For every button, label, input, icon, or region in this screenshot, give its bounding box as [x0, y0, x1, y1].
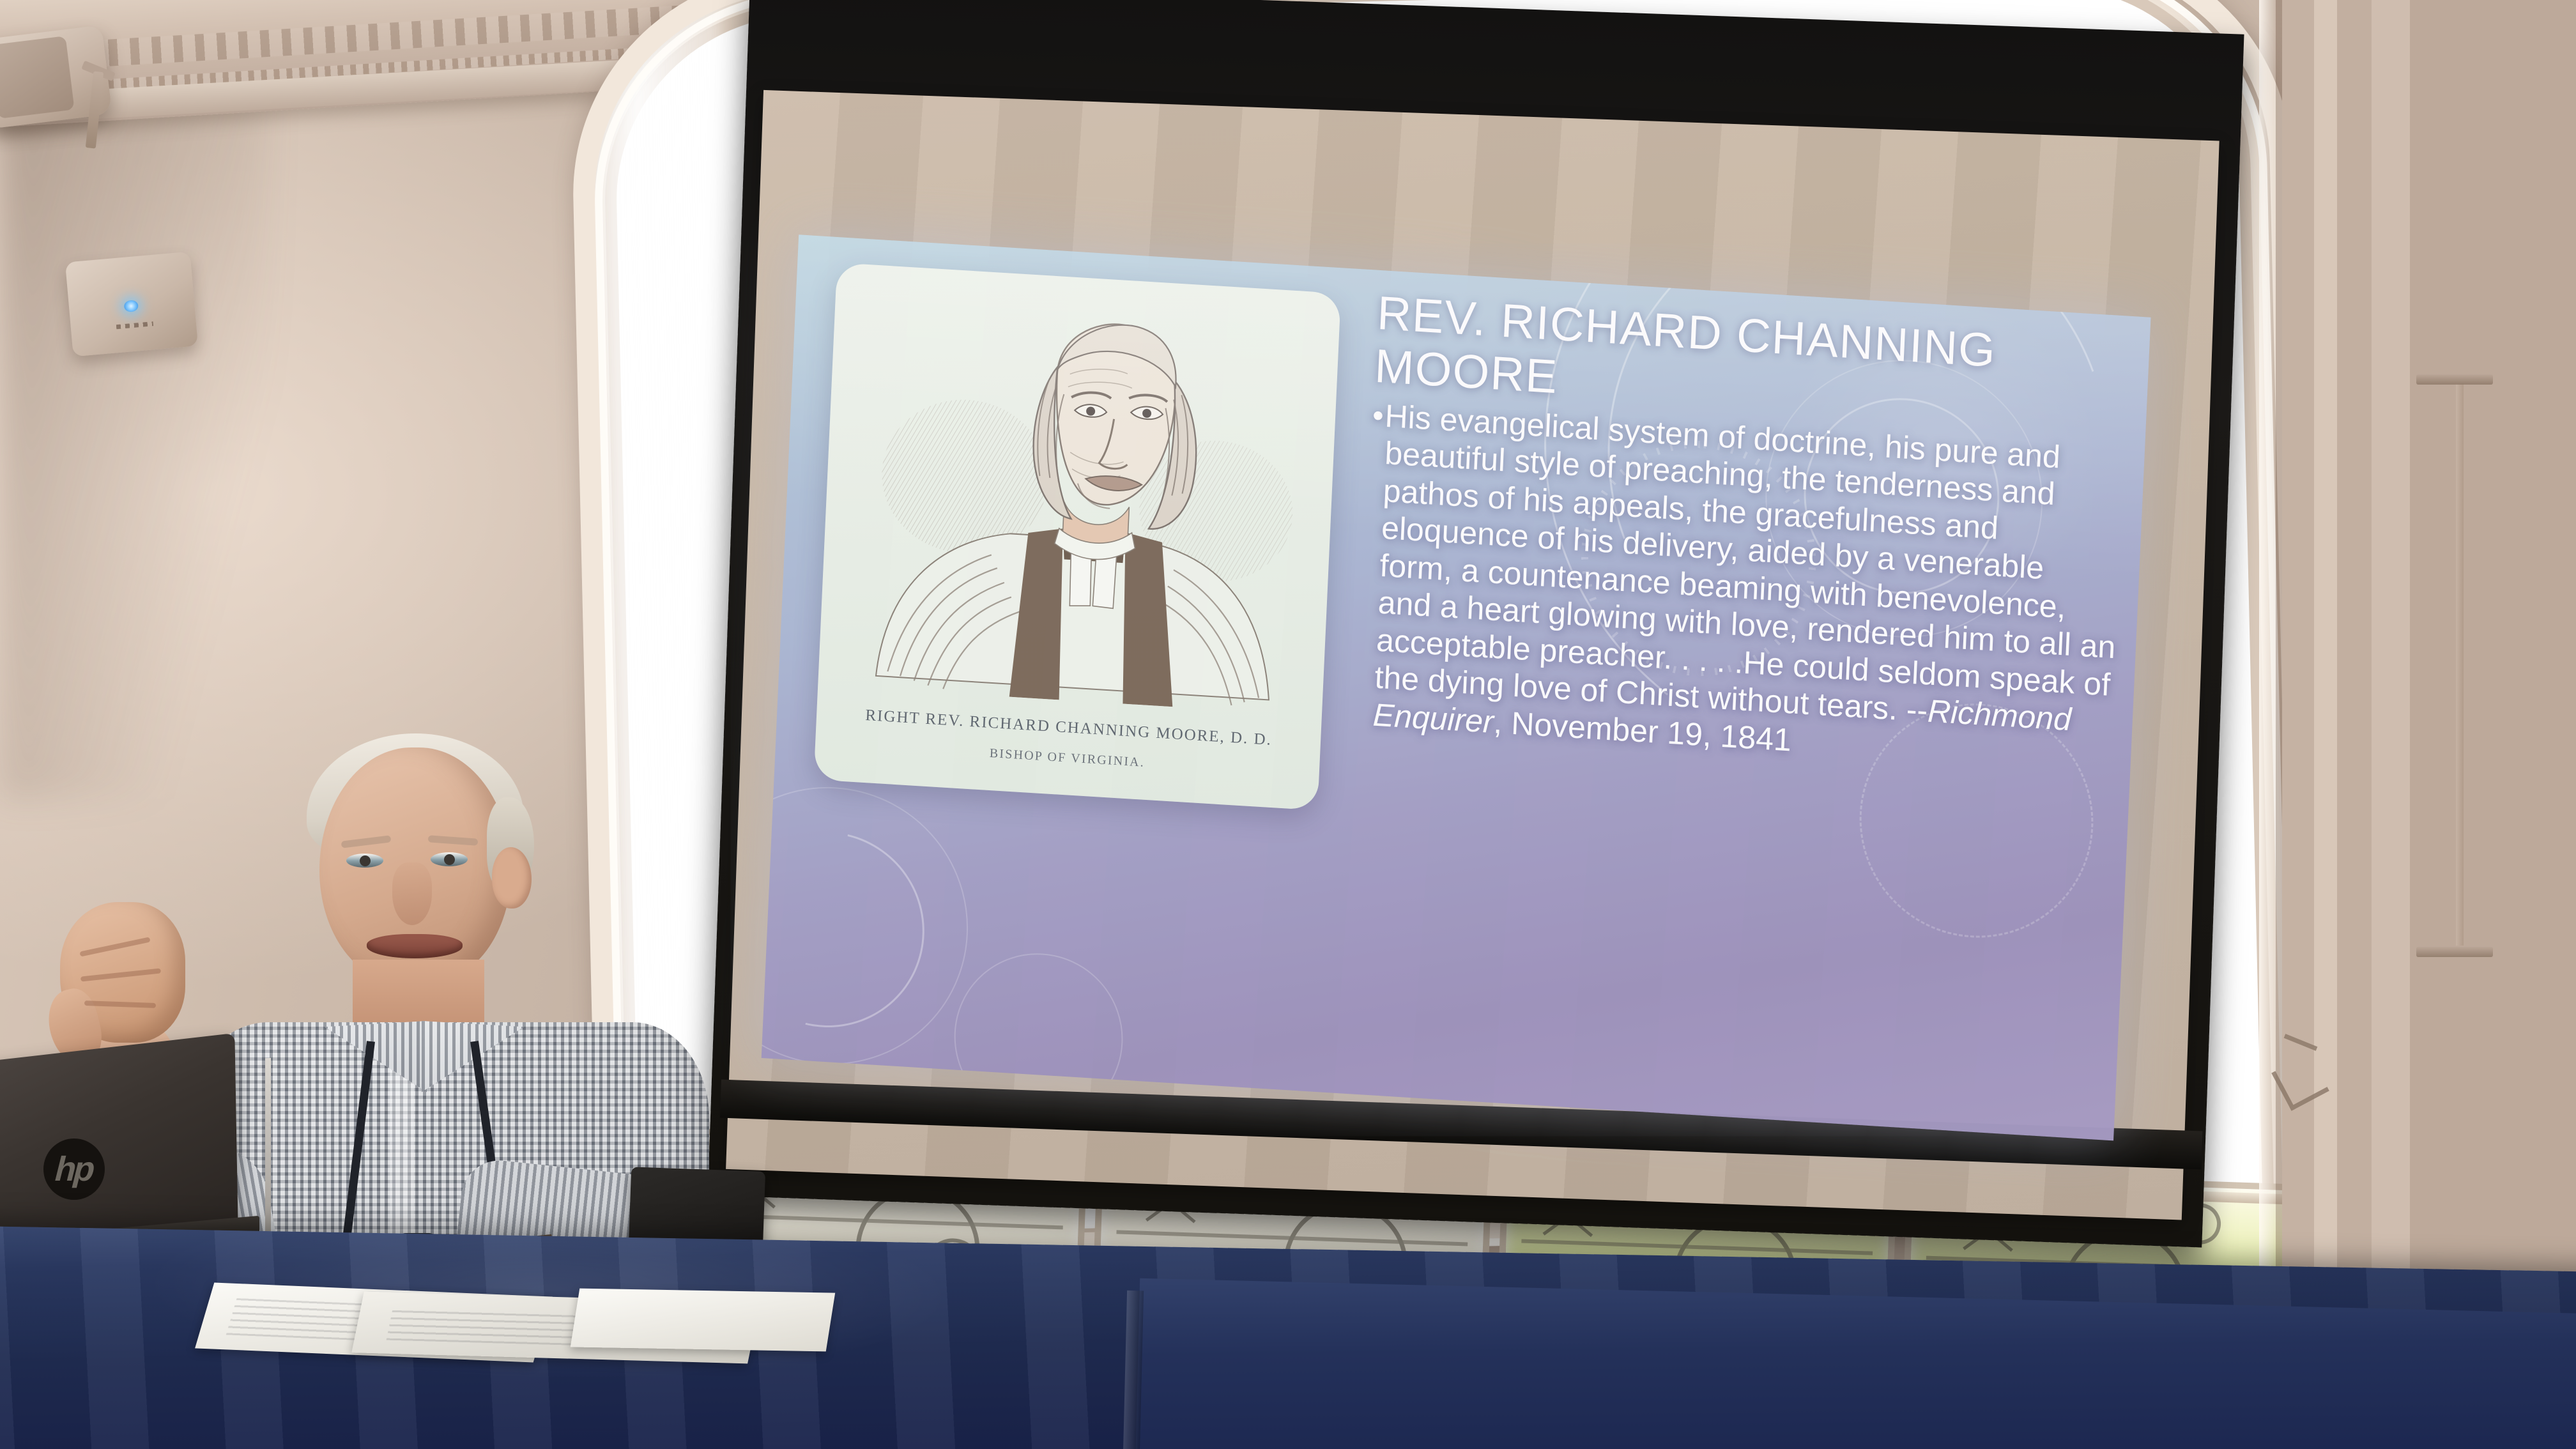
- wifi-access-point: [65, 252, 198, 357]
- slide-text-column: REV. RICHARD CHANNING MOORE His evangeli…: [1358, 287, 2135, 779]
- portrait-caption: RIGHT REV. RICHARD CHANNING MOORE, D. D.…: [815, 703, 1321, 781]
- presenter-mouth: [367, 934, 463, 958]
- speaker-grille: [0, 36, 75, 119]
- photo-scene: RIGHT REV. RICHARD CHANNING MOORE, D. D.…: [0, 0, 2576, 1449]
- slide-bullet-list: His evangelical system of doctrine, his …: [1358, 396, 2129, 778]
- portrait-image-card: RIGHT REV. RICHARD CHANNING MOORE, D. D.…: [814, 263, 1341, 810]
- bishop-portrait-engraving: [818, 277, 1340, 716]
- presenter-eye: [431, 852, 468, 866]
- decorative-arc: [762, 795, 962, 1064]
- presenter-eye: [346, 854, 383, 868]
- projected-slide: RIGHT REV. RICHARD CHANNING MOORE, D. D.…: [762, 234, 2151, 1140]
- hp-logo-text: hp: [50, 1149, 97, 1189]
- decorative-circle: [762, 779, 974, 1073]
- bullet-body-text: His evangelical system of doctrine, his …: [1374, 398, 2116, 729]
- slide-bullet-item: His evangelical system of doctrine, his …: [1358, 396, 2129, 778]
- hp-logo-icon: hp: [43, 1138, 105, 1200]
- wall-bracket: [2416, 374, 2493, 385]
- status-led-icon: [124, 300, 139, 312]
- laptop-lid-edge: [265, 1058, 271, 1238]
- bracket-rod: [2456, 383, 2464, 946]
- presenter-ear: [492, 847, 532, 908]
- wall-bracket: [2416, 947, 2493, 957]
- vent-slots: [116, 321, 153, 329]
- paper-sheet: [571, 1289, 835, 1352]
- presenter-nose: [392, 862, 432, 925]
- projection-screen: RIGHT REV. RICHARD CHANNING MOORE, D. D.…: [666, 0, 2273, 1241]
